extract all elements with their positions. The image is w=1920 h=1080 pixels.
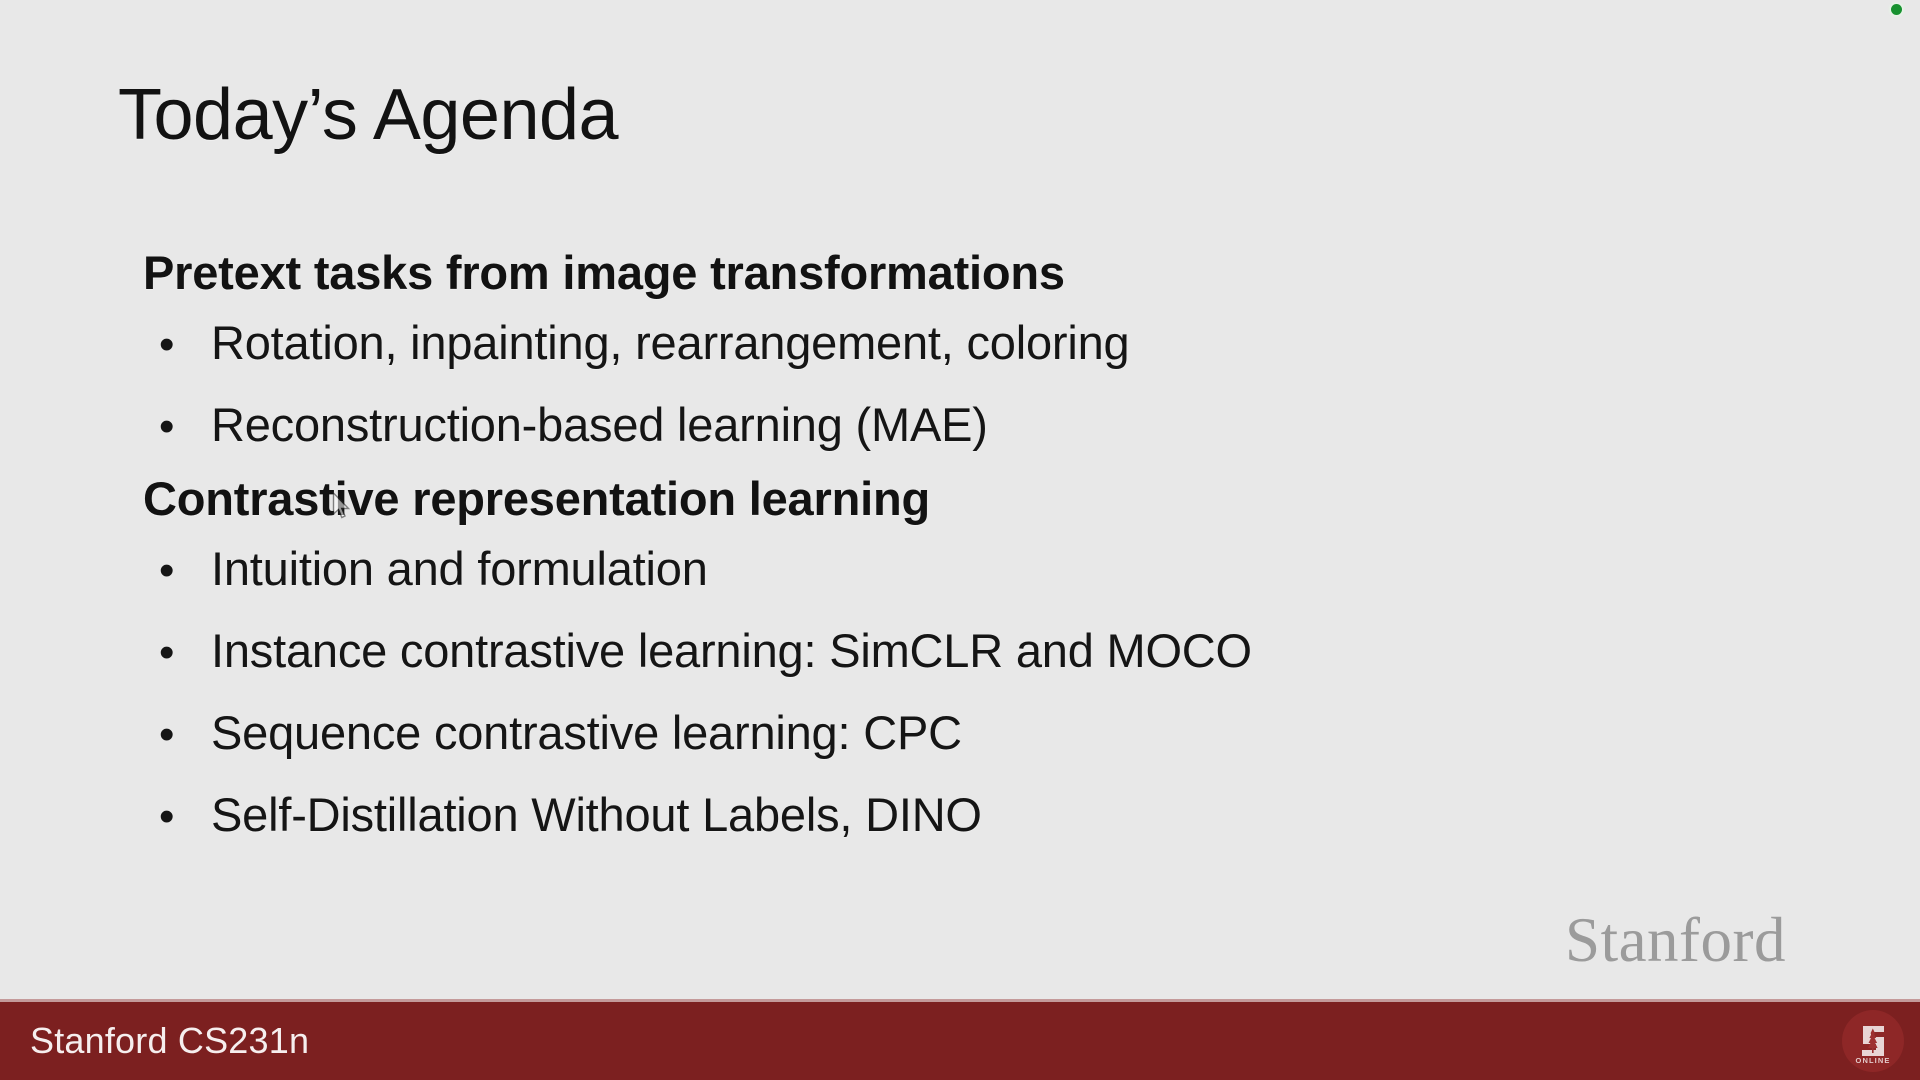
stanford-wordmark: Stanford [1565, 909, 1786, 972]
stanford-online-logo: ONLINE [1842, 1010, 1904, 1072]
bullet-dot-icon: • [143, 306, 211, 383]
logo-online-label: ONLINE [1842, 1056, 1904, 1065]
page-title: Today’s Agenda [118, 73, 618, 157]
list-item: • Reconstruction-based learning (MAE) [143, 386, 1793, 465]
list-item-label: Reconstruction-based learning (MAE) [211, 386, 988, 463]
bullet-dot-icon: • [143, 532, 211, 609]
list-item: • Self-Distillation Without Labels, DINO [143, 776, 1793, 855]
slide-footer-bar: Stanford CS231n ONLINE [0, 999, 1920, 1080]
recording-indicator-icon [1891, 4, 1902, 15]
list-item: • Rotation, inpainting, rearrangement, c… [143, 304, 1793, 383]
bullet-dot-icon: • [143, 614, 211, 691]
list-item: • Intuition and formulation [143, 530, 1793, 609]
bullet-dot-icon: • [143, 778, 211, 855]
footer-course-title: Stanford CS231n [30, 1021, 309, 1061]
list-item-label: Instance contrastive learning: SimCLR an… [211, 612, 1252, 689]
section-heading-contrastive-learning: Contrastive representation learning [143, 469, 1793, 529]
list-item-label: Rotation, inpainting, rearrangement, col… [211, 304, 1130, 381]
agenda-list: Pretext tasks from image transformations… [143, 243, 1793, 858]
list-item: • Instance contrastive learning: SimCLR … [143, 612, 1793, 691]
section-heading-pretext-tasks: Pretext tasks from image transformations [143, 243, 1793, 303]
list-item-label: Intuition and formulation [211, 530, 708, 607]
presentation-slide: Today’s Agenda Pretext tasks from image … [0, 0, 1920, 1080]
bullet-dot-icon: • [143, 696, 211, 773]
list-item-label: Sequence contrastive learning: CPC [211, 694, 962, 771]
list-item: • Sequence contrastive learning: CPC [143, 694, 1793, 773]
bullet-dot-icon: • [143, 388, 211, 465]
list-item-label: Self-Distillation Without Labels, DINO [211, 776, 982, 853]
